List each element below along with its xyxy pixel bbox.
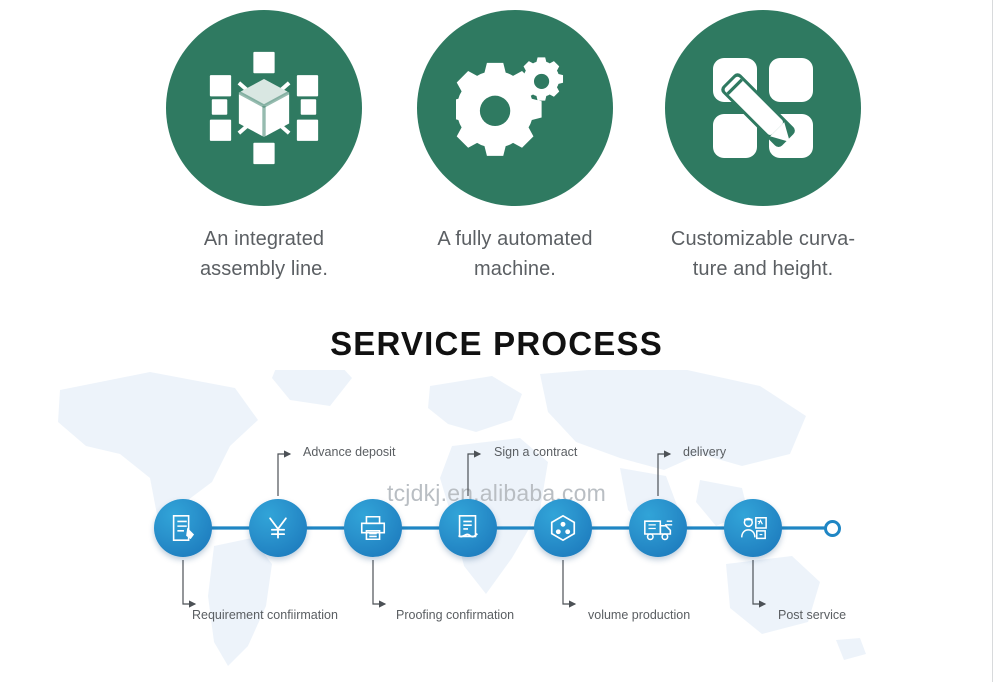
page-root: An integrated assembly line. <box>0 0 993 682</box>
feature-icon-circle <box>166 10 362 206</box>
step-label-volume-production: volume production <box>588 608 690 622</box>
timeline-end-cap <box>824 520 841 537</box>
feature-caption-line1: An integrated <box>134 224 394 254</box>
process-node-volume-production[interactable] <box>534 499 592 557</box>
step-label-proofing-confirmation: Proofing confirmation <box>396 608 514 622</box>
yen-currency-icon <box>264 514 292 542</box>
process-node-proofing-confirmation[interactable] <box>344 499 402 557</box>
squares-pencil-edit-icon <box>711 56 815 160</box>
hexagon-dots-icon <box>548 513 578 543</box>
printer-icon <box>358 513 388 543</box>
step-label-sign-a-contract: Sign a contract <box>494 445 577 459</box>
feature-card-customizable-curvature: Customizable curva- ture and height. <box>633 10 893 284</box>
document-edit-icon <box>168 513 198 543</box>
feature-row: An integrated assembly line. <box>0 0 993 300</box>
network-cube-icon <box>206 50 322 166</box>
step-label-post-service: Post service <box>778 608 846 622</box>
process-node-advance-deposit[interactable] <box>249 499 307 557</box>
feature-caption-line2: machine. <box>385 254 645 284</box>
process-node-delivery[interactable] <box>629 499 687 557</box>
feature-caption-line1: Customizable curva- <box>633 224 893 254</box>
feature-caption-line2: assembly line. <box>134 254 394 284</box>
feature-caption-line2: ture and height. <box>633 254 893 284</box>
process-node-post-service[interactable] <box>724 499 782 557</box>
service-process-section: tcjdkj.en.alibaba.com <box>0 370 993 682</box>
feature-icon-circle <box>665 10 861 206</box>
step-label-requirement-confirmation: Requirement confiirmation <box>192 608 338 622</box>
delivery-truck-icon <box>643 513 674 544</box>
gears-icon <box>456 52 574 164</box>
feature-caption: An integrated assembly line. <box>134 224 394 284</box>
feature-caption: A fully automated machine. <box>385 224 645 284</box>
process-node-sign-a-contract[interactable] <box>439 499 497 557</box>
process-node-requirement-confirmation[interactable] <box>154 499 212 557</box>
section-title: SERVICE PROCESS <box>0 325 993 363</box>
feature-card-fully-automated-machine: A fully automated machine. <box>385 10 645 284</box>
support-agent-icon <box>738 513 768 543</box>
contract-sign-icon <box>453 513 483 543</box>
feature-card-integrated-assembly-line: An integrated assembly line. <box>134 10 394 284</box>
step-label-delivery: delivery <box>683 445 726 459</box>
feature-caption: Customizable curva- ture and height. <box>633 224 893 284</box>
feature-icon-circle <box>417 10 613 206</box>
feature-caption-line1: A fully automated <box>385 224 645 254</box>
step-label-advance-deposit: Advance deposit <box>303 445 395 459</box>
